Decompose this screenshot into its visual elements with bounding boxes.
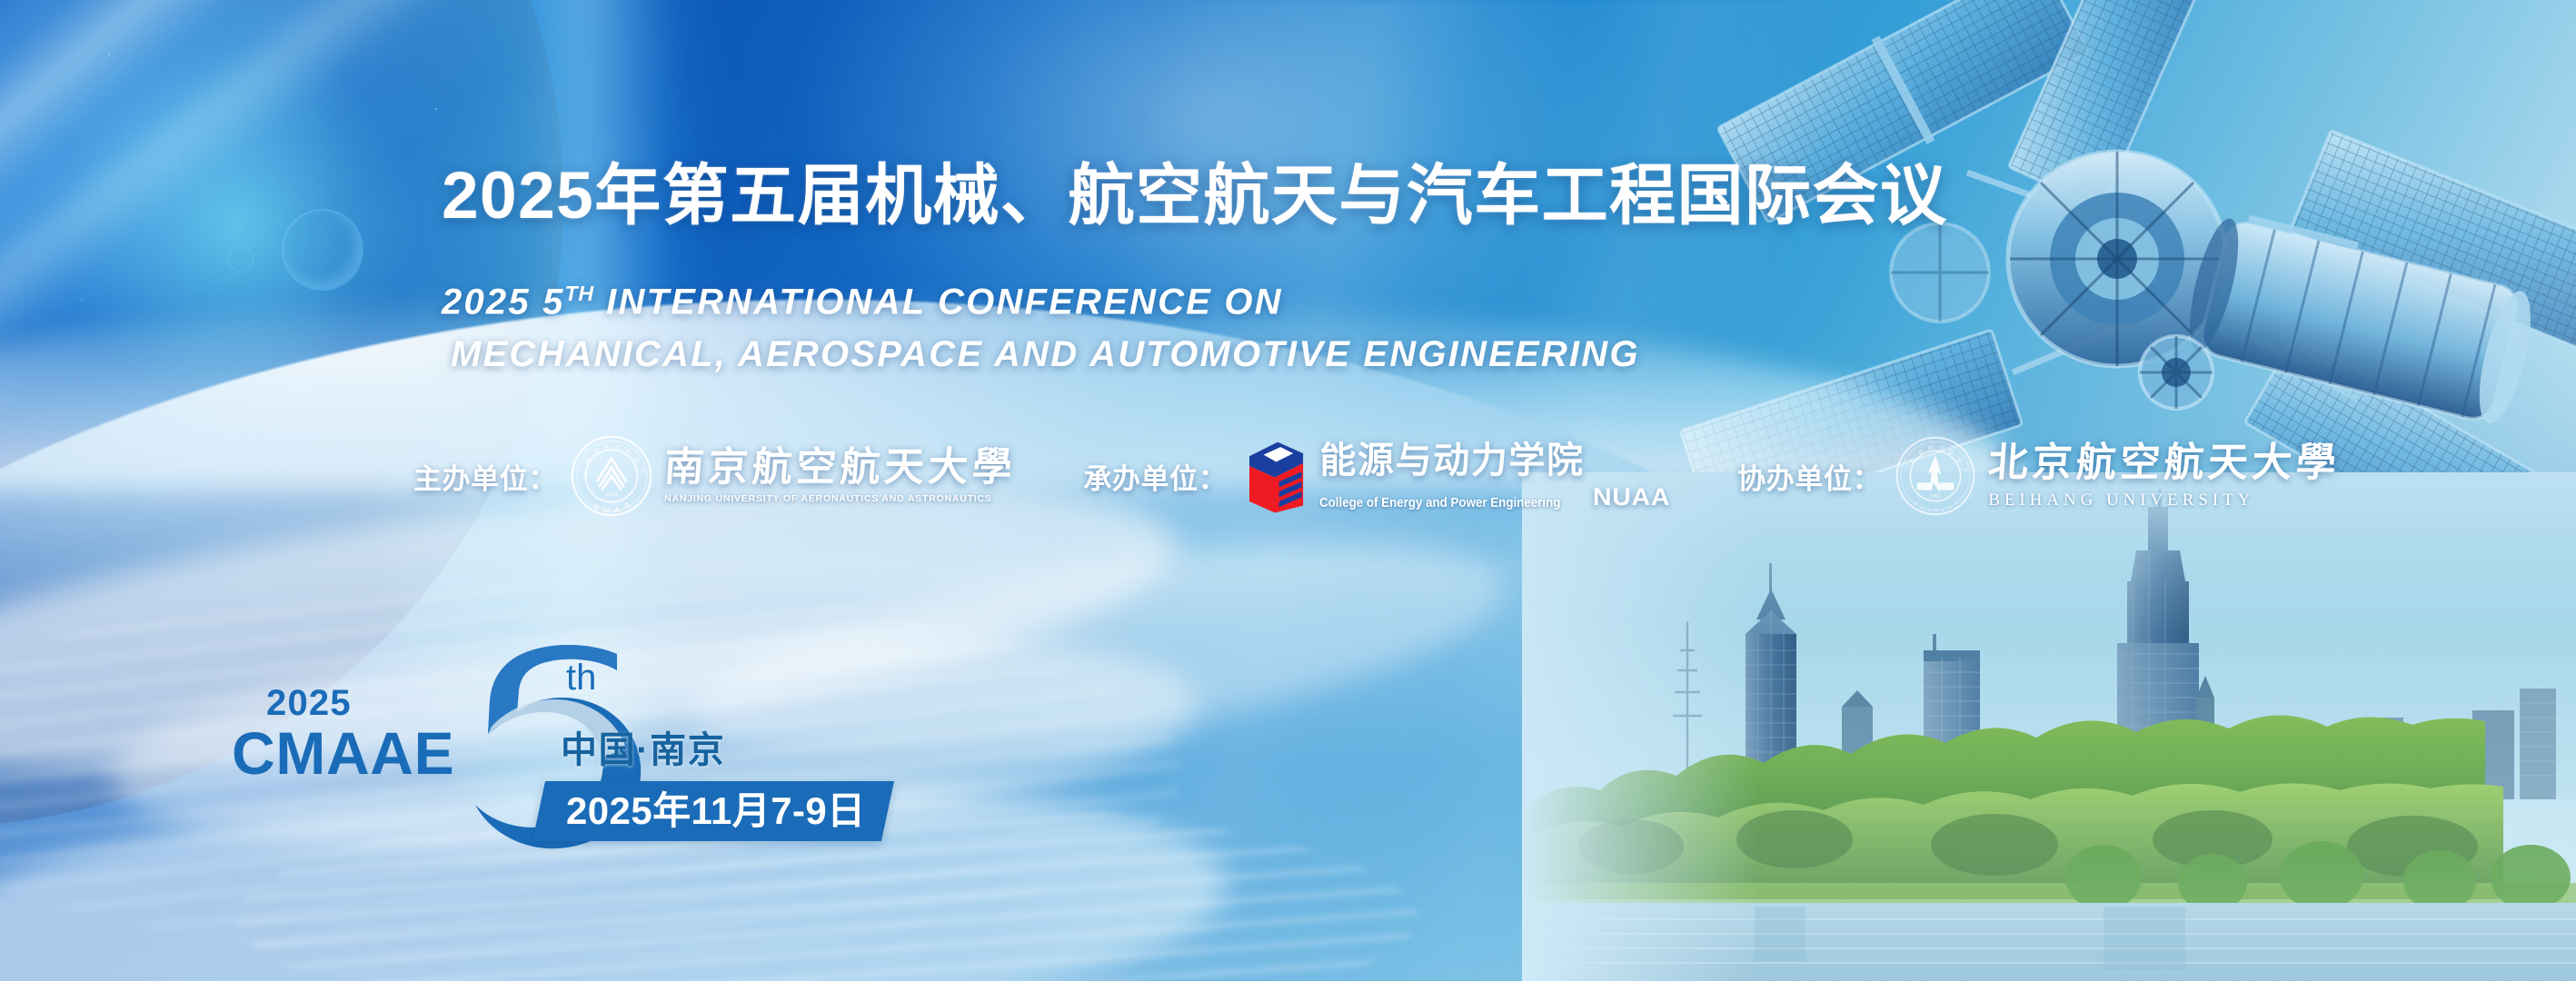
- organizer-supporter: 协办单位：: [1737, 434, 2340, 518]
- cepe-name-en: College of Energy and Power Engineering: [1319, 497, 1560, 510]
- edition-suffix: th: [566, 659, 596, 696]
- cepe-sub-row: College of Energy and Power Engineering …: [1319, 485, 1666, 510]
- subtitle-line-1: 2025 5TH INTERNATIONAL CONFERENCE ON: [442, 282, 1283, 322]
- svg-text:南: 南: [583, 455, 593, 465]
- nuaa-name-block: 南京航空航天大學 NANJING UNIVERSITY OF AERONAUTI…: [664, 448, 1016, 504]
- svg-text:1952: 1952: [1930, 494, 1941, 500]
- lockup-year: 2025: [266, 685, 352, 721]
- beihang-name-en: BEIHANG UNIVERSITY: [1988, 491, 2340, 509]
- beihang-name-block: 北京航空航天大學 BEIHANG UNIVERSITY: [1988, 443, 2340, 509]
- ordinal-suffix: TH: [565, 282, 594, 305]
- organizer-host-label: 主办单位：: [413, 456, 557, 497]
- svg-text:北: 北: [1908, 456, 1918, 466]
- banner-content: 2025年第五届机械、航空航天与汽车工程国际会议 2025 5TH INTERN…: [0, 0, 2576, 981]
- organizer-cohost-label: 承办单位：: [1083, 456, 1227, 497]
- svg-text:天: 天: [632, 456, 641, 466]
- nuaa-seal-icon: 1952 南 京 航 空 航 天 大 学 N: [570, 434, 653, 518]
- cepe-name-block: 能源与动力学院 College of Energy and Power Engi…: [1319, 442, 1666, 510]
- svg-text:航: 航: [623, 448, 632, 458]
- event-location: 中国·南京: [561, 732, 725, 768]
- svg-text:1952: 1952: [605, 491, 619, 498]
- subtitle-rest: INTERNATIONAL CONFERENCE ON: [594, 282, 1283, 322]
- cepe-name-cn: 能源与动力学院: [1319, 442, 1666, 479]
- svg-text:U: U: [602, 506, 610, 515]
- page-title: 2025年第五届机械、航空航天与汽车工程国际会议: [442, 160, 1947, 233]
- svg-text:H: H: [1934, 510, 1937, 515]
- svg-text:空: 空: [1939, 443, 1945, 451]
- event-date-text: 2025年11月7-9日: [566, 792, 866, 830]
- nuaa-name-en: NANJING UNIVERSITY OF AERONAUTICS AND AS…: [664, 494, 1016, 504]
- svg-text:航: 航: [1947, 448, 1956, 458]
- organizer-host: 主办单位：: [413, 434, 1016, 518]
- book-logo-icon: [1239, 438, 1310, 514]
- event-date-badge: 2025年11月7-9日: [532, 781, 894, 841]
- svg-text:航: 航: [1927, 443, 1935, 453]
- organizers-row: 主办单位：: [413, 434, 2340, 518]
- svg-text:航: 航: [603, 443, 612, 453]
- subtitle-prefix: 2025 5: [442, 282, 565, 322]
- organizer-supporter-label: 协办单位：: [1737, 456, 1881, 497]
- svg-text:京: 京: [592, 447, 602, 457]
- svg-text:学: 学: [582, 470, 592, 479]
- organizer-cohost: 承办单位： 能源与动力学院: [1083, 438, 1666, 514]
- beihang-seal-icon: 1952 北 京 航 空 航 天 大 B E: [1894, 434, 1977, 518]
- svg-text:A: A: [614, 506, 621, 515]
- svg-text:京: 京: [1916, 447, 1926, 457]
- svg-text:空: 空: [615, 443, 622, 451]
- conference-banner: 2025年第五届机械、航空航天与汽车工程国际会议 2025 5TH INTERN…: [0, 0, 2576, 981]
- beihang-name-cn: 北京航空航天大學: [1987, 443, 2342, 483]
- event-lockup: 2025 CMAAE th 中国·南京 2025年11月7-9日: [232, 674, 886, 856]
- lockup-acronym: CMAAE: [232, 723, 454, 783]
- subtitle-line-2: MECHANICAL, AEROSPACE AND AUTOMOTIVE ENG…: [451, 334, 1640, 375]
- nuaa-name-cn: 南京航空航天大學: [663, 448, 1018, 488]
- nuaa-wordmark: NUAA: [1593, 485, 1670, 510]
